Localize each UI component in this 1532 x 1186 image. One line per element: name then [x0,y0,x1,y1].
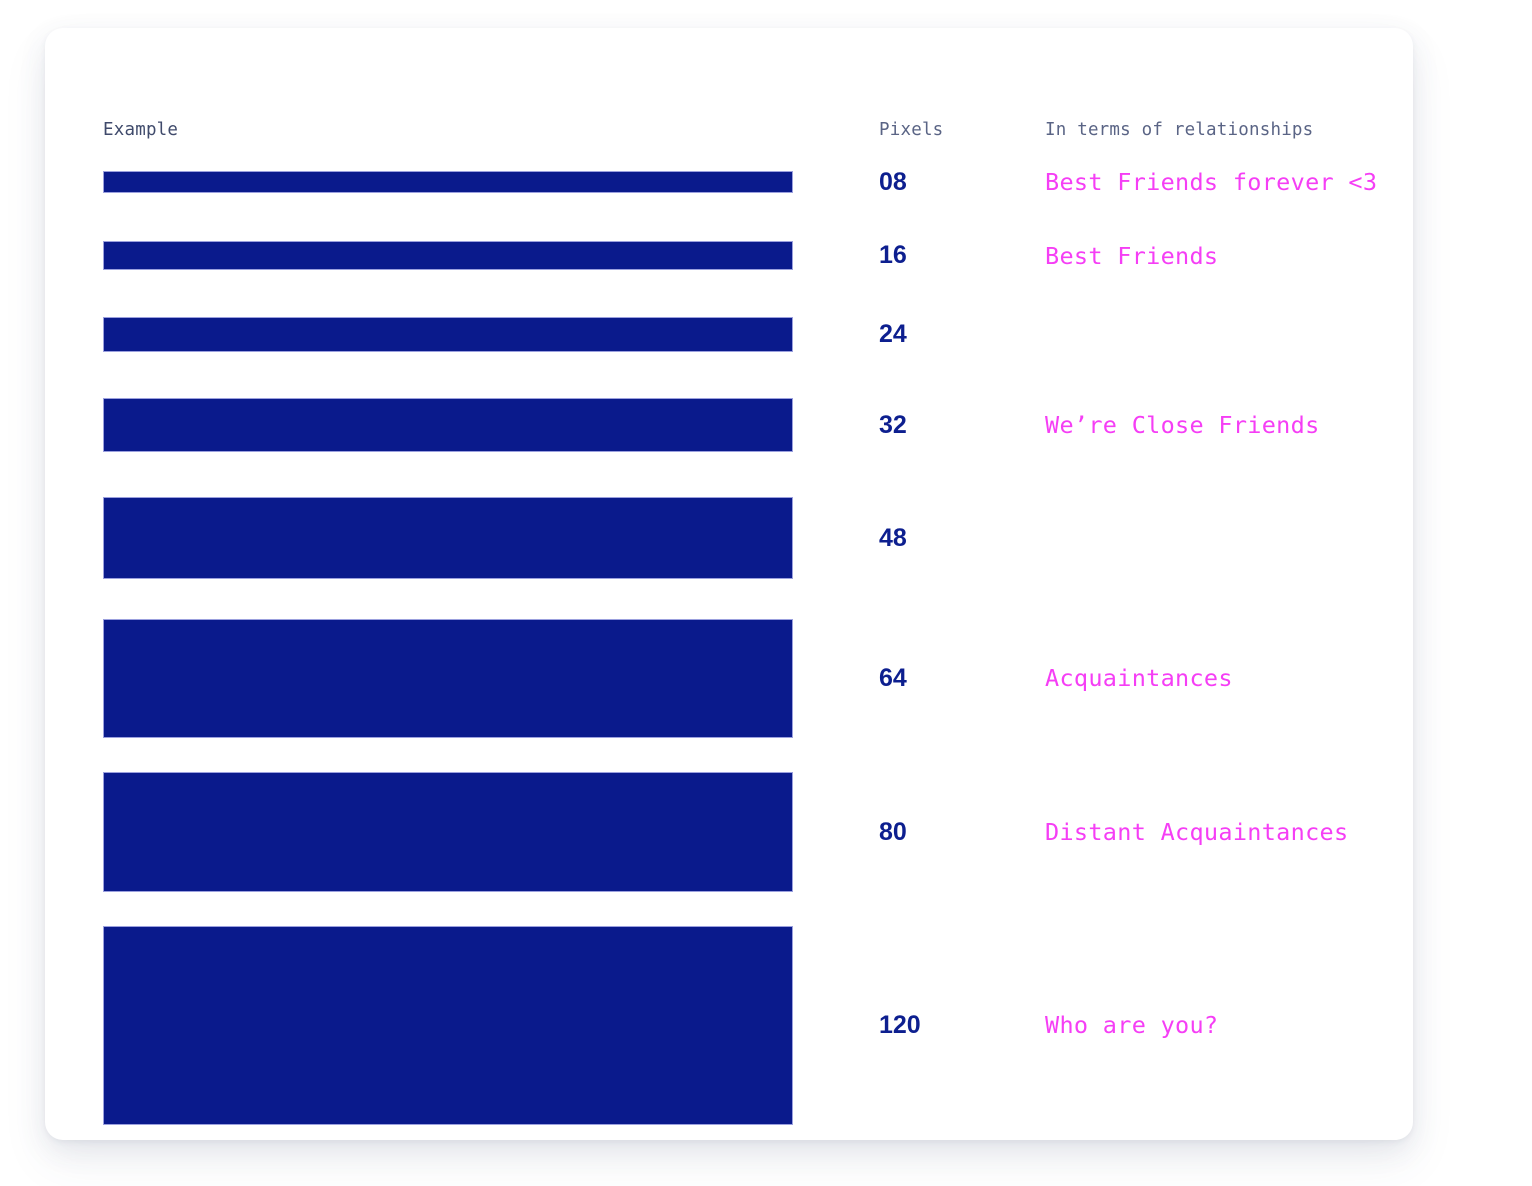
pixel-value-label: 32 [879,411,1045,440]
column-header-pixels: Pixels [879,120,943,140]
thickness-bar [103,398,793,452]
relationship-label: Best Friends forever <3 [1045,168,1413,196]
pixel-value-label: 48 [879,524,1045,553]
bar-cell [103,619,879,738]
thickness-bar [103,497,793,579]
thickness-bar [103,772,793,892]
table-row: 16Best Friends [103,218,1413,293]
table-row: 120Who are you? [103,909,1413,1141]
thickness-bar [103,619,793,738]
thickness-scale-table: Example Pixels In terms of relationships… [103,86,1413,1140]
table-body: 08Best Friends forever <316Best Friends2… [103,146,1413,1141]
pixel-value-label: 80 [879,818,1045,847]
table-row: 48 [103,475,1413,601]
table-row: 24 [103,293,1413,375]
thickness-bar [103,926,793,1125]
table-header-row: Example Pixels In terms of relationships [103,86,1413,146]
bar-cell [103,317,879,352]
bar-cell [103,926,879,1125]
bar-cell [103,241,879,270]
bar-cell [103,398,879,452]
pixel-value-label: 64 [879,664,1045,693]
chart-card: Example Pixels In terms of relationships… [45,28,1413,1140]
table-row: 32We’re Close Friends [103,375,1413,475]
column-header-example: Example [103,120,178,140]
page-root: Example Pixels In terms of relationships… [0,0,1532,1186]
relationship-label: Acquaintances [1045,664,1413,692]
pixel-value-label: 24 [879,320,1045,349]
table-row: 64Acquaintances [103,601,1413,755]
bar-cell [103,171,879,193]
relationship-label: Who are you? [1045,1011,1413,1039]
column-header-relationships: In terms of relationships [1045,120,1313,140]
pixel-value-label: 08 [879,168,1045,197]
bar-cell [103,772,879,892]
pixel-value-label: 16 [879,241,1045,270]
thickness-bar [103,317,793,352]
thickness-bar [103,171,793,193]
relationship-label: Distant Acquaintances [1045,818,1413,846]
bar-cell [103,497,879,579]
pixel-value-label: 120 [879,1011,1045,1040]
table-row: 08Best Friends forever <3 [103,146,1413,218]
thickness-bar [103,241,793,270]
relationship-label: We’re Close Friends [1045,411,1413,439]
table-row: 80Distant Acquaintances [103,755,1413,909]
relationship-label: Best Friends [1045,242,1413,270]
